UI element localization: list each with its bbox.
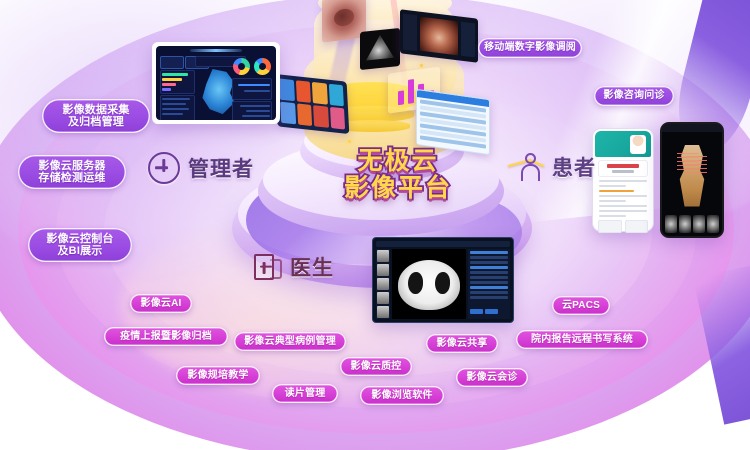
- ct-3d-thumbnail: [400, 9, 478, 63]
- person-icon: [518, 153, 544, 181]
- ct-workstation-screen[interactable]: [372, 237, 514, 323]
- pill-patient-consultation[interactable]: 影像咨询问诊: [594, 86, 674, 106]
- pill-doctor-epidemic-archive[interactable]: 疫情上报暨影像归档: [104, 327, 228, 346]
- pill-doctor-reading-management[interactable]: 读片管理: [272, 384, 338, 403]
- role-doctor-text: 医生: [290, 252, 334, 282]
- pill-doctor-case-management[interactable]: 影像云典型病例管理: [234, 332, 346, 351]
- phone-3d-image-screen[interactable]: [660, 122, 724, 238]
- pill-doctor-remote-report-system[interactable]: 院内报告远程书写系统: [516, 330, 648, 349]
- circle-plus-icon: [148, 152, 180, 184]
- app-grid-thumbnail: [275, 74, 350, 134]
- data-table-thumbnail: [416, 89, 490, 155]
- ultrasound-thumbnail: [360, 28, 400, 70]
- infographic-canvas: 管理者 患者 医生 无极云 影像平台 影像数据采集 及归档管理 影像云服务器 存…: [0, 0, 750, 450]
- pill-doctor-cloud-ai[interactable]: 影像云AI: [130, 294, 192, 313]
- document-plus-icon: [254, 254, 282, 281]
- pill-admin-console-bi[interactable]: 影像云控制台 及BI展示: [28, 228, 132, 262]
- bi-dashboard-monitor[interactable]: [152, 42, 280, 124]
- platform-title-line-2: 影像平台: [318, 175, 478, 202]
- pill-doctor-training-teaching[interactable]: 影像规培教学: [176, 366, 260, 385]
- pill-doctor-cloud-pacs[interactable]: 云PACS: [552, 296, 610, 315]
- role-admin-text: 管理者: [188, 153, 254, 183]
- pill-admin-server-ops[interactable]: 影像云服务器 存储检测运维: [18, 155, 126, 189]
- role-label-patient[interactable]: 患者: [518, 152, 596, 182]
- central-data-tower: [300, 0, 470, 170]
- platform-title: 无极云 影像平台: [318, 148, 478, 201]
- role-label-admin[interactable]: 管理者: [148, 152, 254, 184]
- pill-doctor-cloud-consultation[interactable]: 影像云会诊: [456, 368, 528, 387]
- sparkle: [348, 140, 351, 143]
- sparkle: [420, 64, 423, 67]
- phone-report-screen[interactable]: [592, 128, 654, 232]
- role-label-doctor[interactable]: 医生: [254, 252, 334, 282]
- pill-admin-data-collection[interactable]: 影像数据采集 及归档管理: [42, 99, 150, 133]
- pill-patient-mobile-image-access[interactable]: 移动端数字影像调阅: [478, 38, 582, 58]
- pill-doctor-quality-control[interactable]: 影像云质控: [340, 357, 412, 376]
- role-patient-text: 患者: [552, 152, 596, 182]
- platform-title-line-1: 无极云: [318, 148, 478, 175]
- pill-doctor-cloud-sharing[interactable]: 影像云共享: [426, 334, 498, 353]
- pill-doctor-viewer-software[interactable]: 影像浏览软件: [360, 386, 444, 405]
